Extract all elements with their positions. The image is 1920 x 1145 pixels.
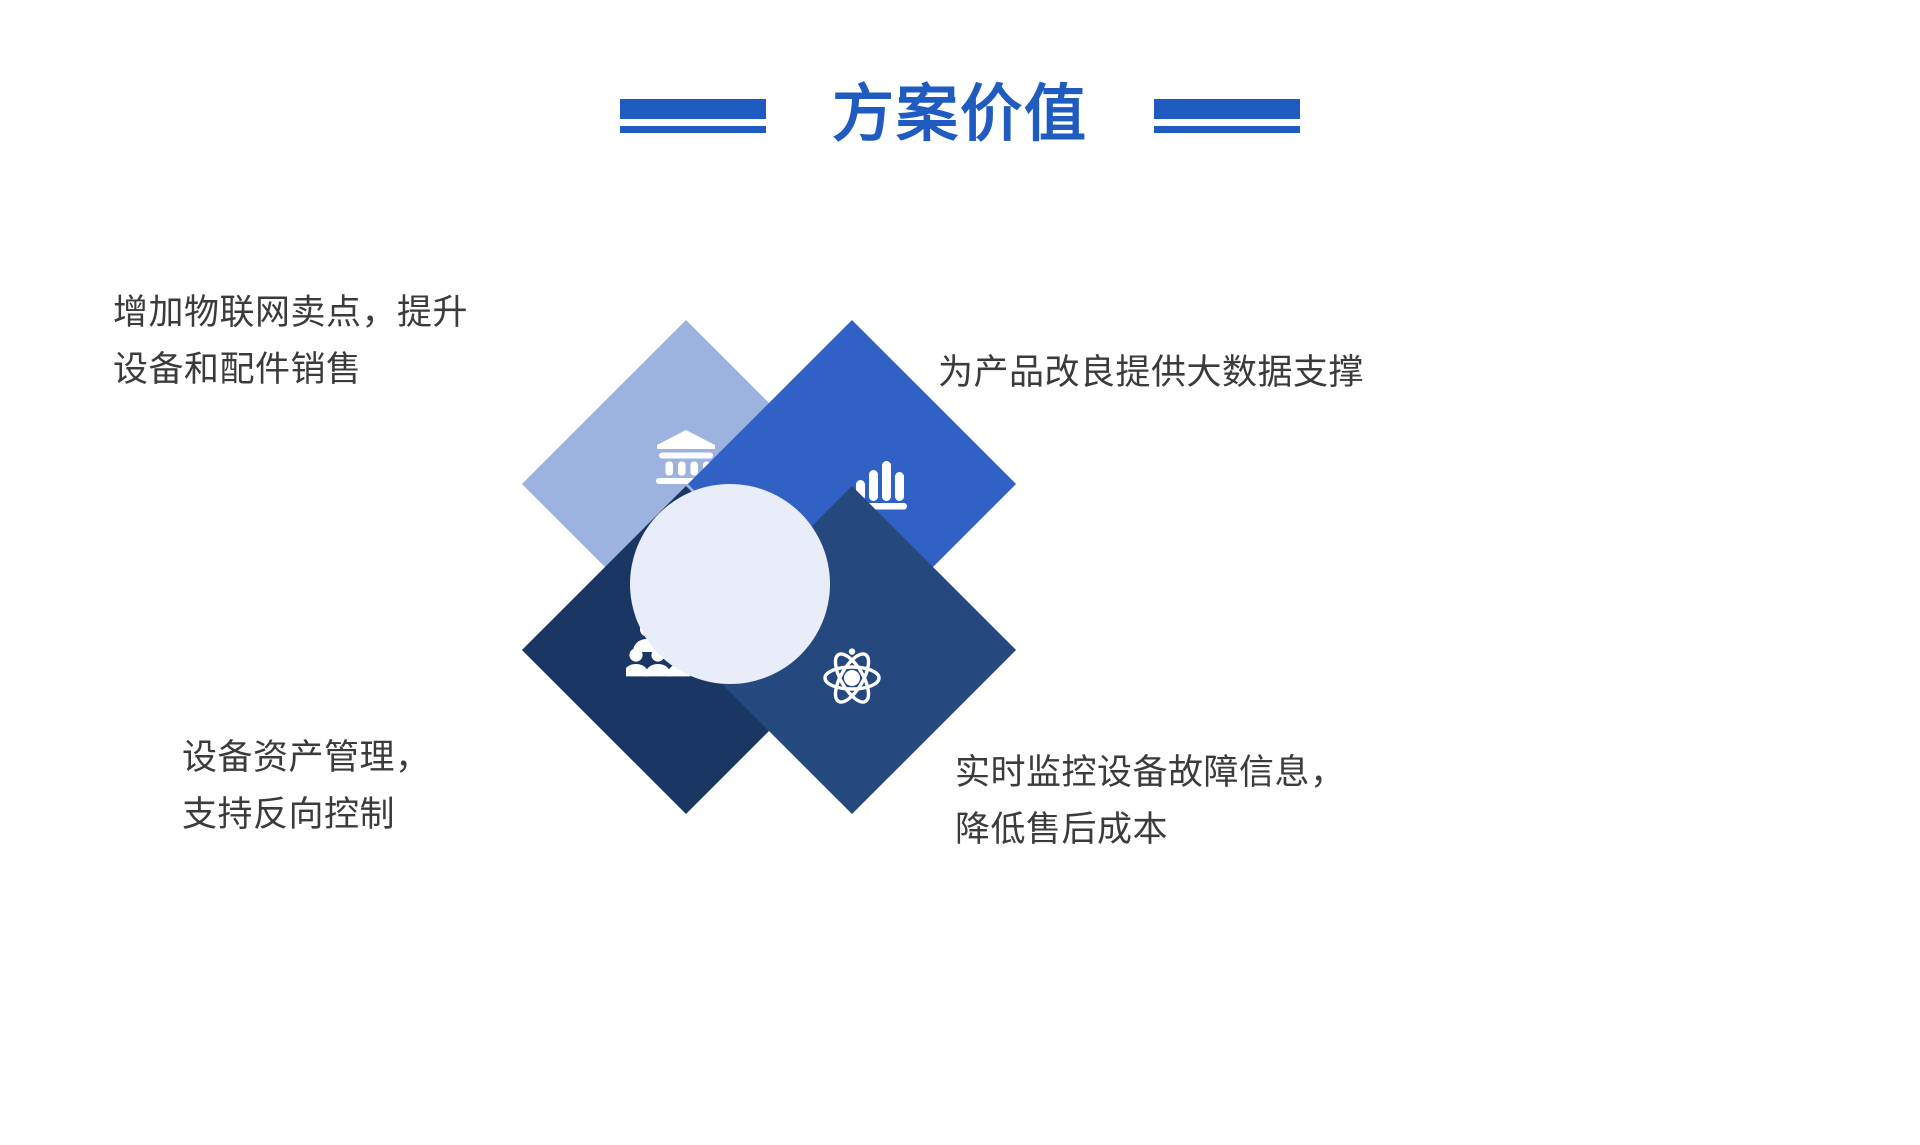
caption-top-left: 增加物联网卖点，提升 设备和配件销售 bbox=[113, 285, 468, 398]
decoration-bar-thin bbox=[620, 126, 766, 133]
decoration-bar-thick bbox=[620, 99, 766, 119]
atom-icon bbox=[809, 635, 895, 721]
title-decoration-left bbox=[620, 99, 766, 135]
caption-bottom-left: 设备资产管理， 支持反向控制 bbox=[182, 730, 431, 843]
center-circle bbox=[630, 484, 830, 684]
decoration-bar-thick bbox=[1154, 99, 1300, 119]
page-title: 方案价值 bbox=[832, 84, 1088, 146]
page-header: 方案价值 bbox=[0, 62, 1920, 172]
caption-bottom-right: 实时监控设备故障信息， 降低售后成本 bbox=[955, 745, 1346, 858]
decoration-bar-thin bbox=[1154, 126, 1300, 133]
title-decoration-right bbox=[1154, 99, 1300, 135]
caption-top-right: 为产品改良提供大数据支撑 bbox=[938, 345, 1364, 402]
